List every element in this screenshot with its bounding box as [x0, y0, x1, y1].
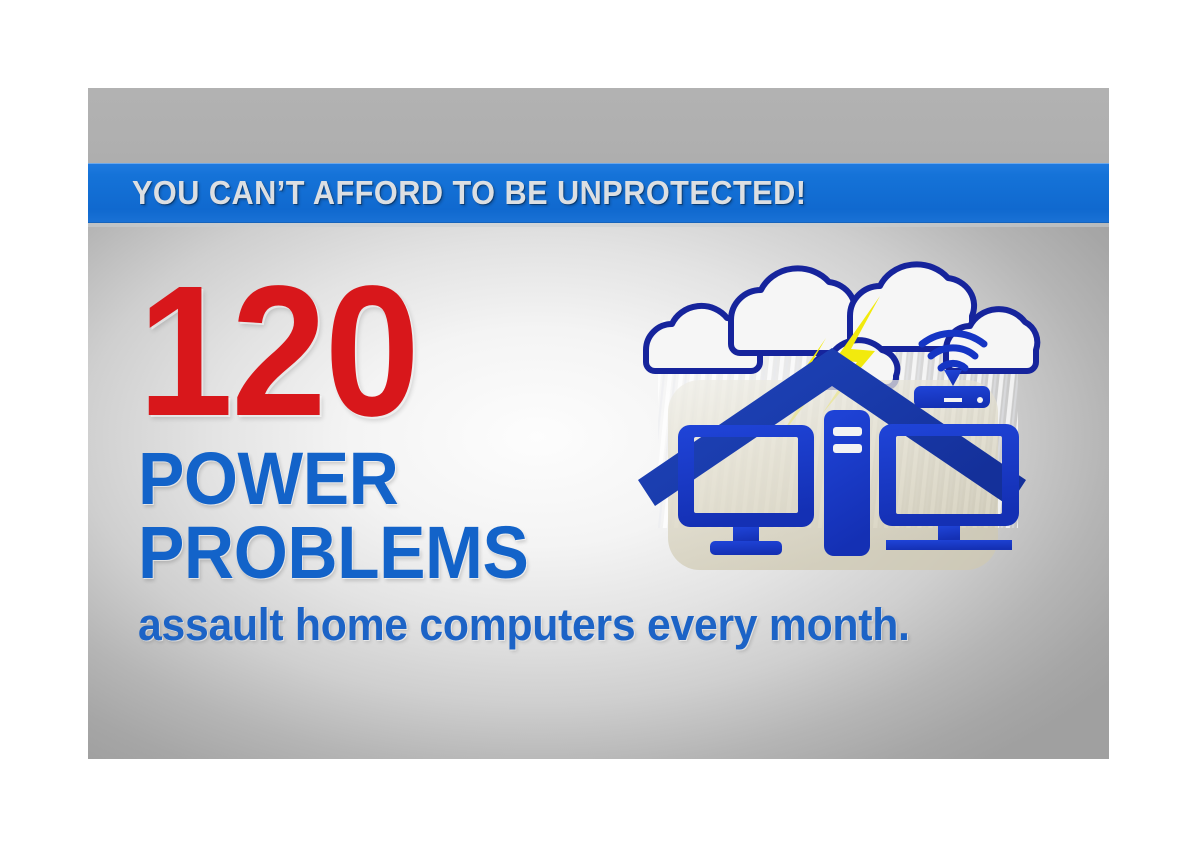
headline-block: 120 POWER PROBLEMS assault home computer…: [138, 278, 608, 647]
headline-word-problems: PROBLEMS: [138, 517, 580, 589]
headline-subline: assault home computers every month.: [138, 602, 585, 647]
pc-tower-icon: [824, 410, 870, 556]
banner-text: YOU CAN’T AFFORD TO BE UNPROTECTED!: [132, 174, 806, 212]
stat-number: 120: [138, 278, 570, 427]
headline-banner: YOU CAN’T AFFORD TO BE UNPROTECTED!: [88, 163, 1109, 223]
slide-frame: YOU CAN’T AFFORD TO BE UNPROTECTED! 120 …: [88, 88, 1109, 759]
page-canvas: YOU CAN’T AFFORD TO BE UNPROTECTED! 120 …: [0, 0, 1200, 849]
storm-home-illustration: [628, 228, 1048, 608]
headline-word-power: POWER: [138, 443, 580, 515]
top-grey-strip: [88, 88, 1109, 163]
